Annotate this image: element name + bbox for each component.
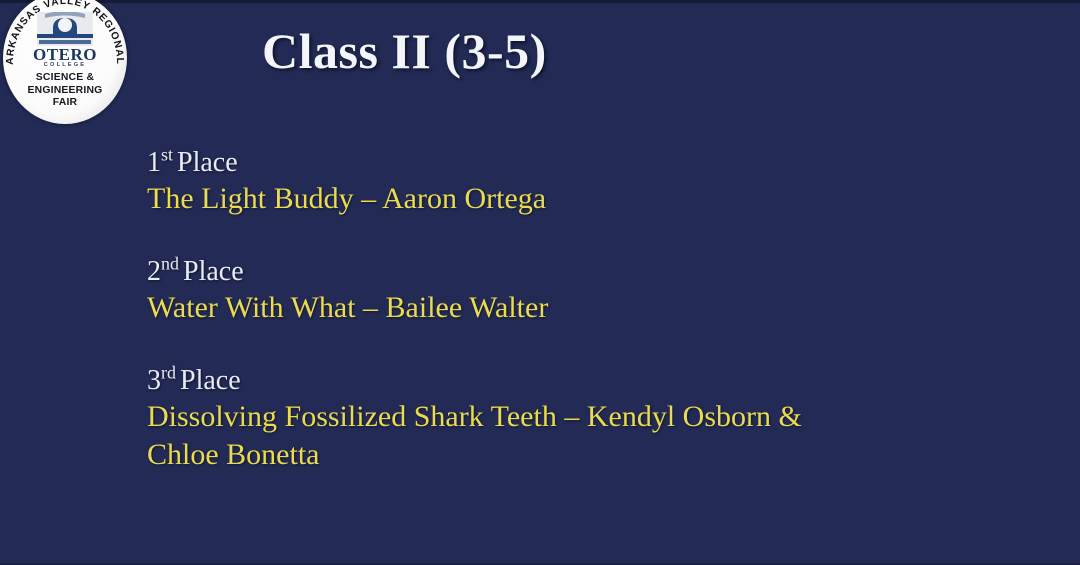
project-line: The Light Buddy – Aaron Ortega bbox=[147, 180, 1047, 218]
place-number: 1 bbox=[147, 147, 161, 178]
place-ordinal-suffix: rd bbox=[161, 363, 176, 383]
place-word: Place bbox=[177, 147, 238, 178]
award-entry-first: 1stPlace The Light Buddy – Aaron Ortega bbox=[147, 146, 1047, 218]
logo-institution-sub: COLLEGE bbox=[3, 63, 127, 69]
logo-institution: OTERO bbox=[3, 46, 127, 63]
award-entry-second: 2ndPlace Water With What – Bailee Walter bbox=[147, 255, 1047, 327]
otero-emblem-icon bbox=[37, 12, 93, 46]
award-entry-third: 3rdPlace Dissolving Fossilized Shark Tee… bbox=[147, 364, 1047, 474]
presentation-slide: ARKANSAS VALLEY REGIONAL OTERO COLLEGE S… bbox=[0, 0, 1080, 565]
slide-top-edge bbox=[0, 0, 1080, 3]
place-label: 1stPlace bbox=[147, 146, 1047, 180]
place-ordinal-suffix: nd bbox=[161, 254, 179, 274]
logo-tagline-line-3: FAIR bbox=[3, 97, 127, 110]
place-label: 3rdPlace bbox=[147, 364, 1047, 398]
award-list: 1stPlace The Light Buddy – Aaron Ortega … bbox=[147, 146, 1047, 474]
place-number: 2 bbox=[147, 256, 161, 287]
place-word: Place bbox=[183, 256, 244, 287]
logo-tagline-line-2: ENGINEERING bbox=[3, 85, 127, 98]
project-line-continued: Chloe Bonetta bbox=[147, 436, 1047, 474]
project-line: Water With What – Bailee Walter bbox=[147, 289, 1047, 327]
logo-disc: ARKANSAS VALLEY REGIONAL OTERO COLLEGE S… bbox=[3, 0, 127, 124]
logo-tagline: SCIENCE & ENGINEERING FAIR bbox=[3, 72, 127, 110]
logo-tagline-line-1: SCIENCE & bbox=[3, 72, 127, 85]
place-number: 3 bbox=[147, 365, 161, 396]
science-fair-logo: ARKANSAS VALLEY REGIONAL OTERO COLLEGE S… bbox=[3, 0, 127, 124]
page-title: Class II (3-5) bbox=[262, 22, 547, 80]
place-word: Place bbox=[180, 365, 241, 396]
project-line: Dissolving Fossilized Shark Teeth – Kend… bbox=[147, 398, 1047, 436]
place-label: 2ndPlace bbox=[147, 255, 1047, 289]
place-ordinal-suffix: st bbox=[161, 145, 173, 165]
